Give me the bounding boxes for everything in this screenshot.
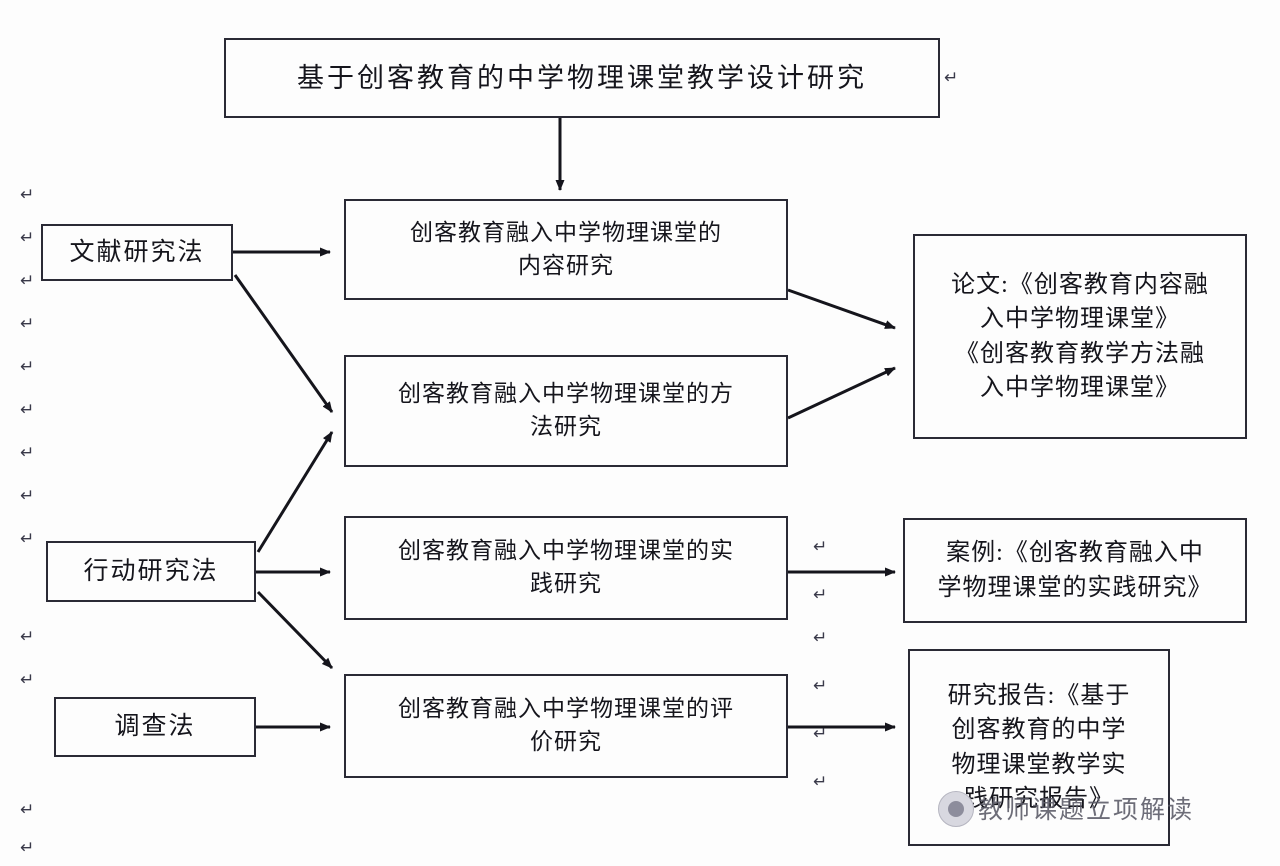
title-box: 基于创客教育的中学物理课堂教学设计研究 bbox=[224, 38, 940, 118]
pilcrow-mark: ↵ bbox=[20, 271, 34, 291]
pilcrow-mark: ↵ bbox=[20, 838, 34, 858]
content-label: 创客教育融入中学物理课堂的方 法研究 bbox=[398, 378, 734, 443]
pilcrow-mark: ↵ bbox=[20, 185, 34, 205]
content-box-evaluation-study: 创客教育融入中学物理课堂的评 价研究 bbox=[344, 674, 788, 778]
method-label: 调查法 bbox=[114, 709, 195, 745]
output-box-case: 案例:《创客教育融入中 学物理课堂的实践研究》 bbox=[903, 518, 1247, 623]
content-label: 创客教育融入中学物理课堂的 内容研究 bbox=[410, 217, 722, 282]
content-box-practice-study: 创客教育融入中学物理课堂的实 践研究 bbox=[344, 516, 788, 620]
pilcrow-mark: ↵ bbox=[20, 486, 34, 506]
pilcrow-mark: ↵ bbox=[813, 628, 827, 648]
pilcrow-mark: ↵ bbox=[813, 772, 827, 792]
pilcrow-mark: ↵ bbox=[20, 529, 34, 549]
content-label: 创客教育融入中学物理课堂的评 价研究 bbox=[398, 693, 734, 758]
pilcrow-mark: ↵ bbox=[813, 537, 827, 557]
method-box-action: 行动研究法 bbox=[46, 541, 256, 602]
title-text: 基于创客教育的中学物理课堂教学设计研究 bbox=[297, 59, 867, 97]
pilcrow-mark: ↵ bbox=[813, 676, 827, 696]
output-box-papers: 论文:《创客教育内容融 入中学物理课堂》 《创客教育教学方法融 入中学物理课堂》 bbox=[913, 234, 1247, 439]
output-label: 案例:《创客教育融入中 学物理课堂的实践研究》 bbox=[938, 536, 1213, 604]
content-box-method-study: 创客教育融入中学物理课堂的方 法研究 bbox=[344, 355, 788, 467]
pilcrow-mark: ↵ bbox=[813, 724, 827, 744]
content-box-content-study: 创客教育融入中学物理课堂的 内容研究 bbox=[344, 199, 788, 300]
method-box-survey: 调查法 bbox=[54, 697, 256, 757]
pilcrow-mark: ↵ bbox=[944, 68, 958, 88]
content-label: 创客教育融入中学物理课堂的实 践研究 bbox=[398, 535, 734, 600]
pilcrow-mark: ↵ bbox=[20, 400, 34, 420]
pilcrow-mark: ↵ bbox=[20, 670, 34, 690]
pilcrow-mark: ↵ bbox=[20, 443, 34, 463]
pilcrow-mark: ↵ bbox=[20, 357, 34, 377]
pilcrow-mark: ↵ bbox=[20, 627, 34, 647]
pilcrow-mark: ↵ bbox=[813, 585, 827, 605]
watermark-text: 教师课题立项解读 bbox=[978, 790, 1194, 826]
diagram-canvas: 基于创客教育的中学物理课堂教学设计研究 文献研究法 行动研究法 调查法 创客教育… bbox=[0, 0, 1280, 866]
pilcrow-mark: ↵ bbox=[20, 228, 34, 248]
pilcrow-mark: ↵ bbox=[20, 800, 34, 820]
output-label: 论文:《创客教育内容融 入中学物理课堂》 《创客教育教学方法融 入中学物理课堂》 bbox=[951, 268, 1209, 404]
method-label: 行动研究法 bbox=[83, 554, 218, 590]
method-box-literature: 文献研究法 bbox=[41, 224, 233, 281]
watermark-logo-icon bbox=[938, 791, 974, 827]
method-label: 文献研究法 bbox=[69, 235, 204, 271]
pilcrow-mark: ↵ bbox=[20, 314, 34, 334]
